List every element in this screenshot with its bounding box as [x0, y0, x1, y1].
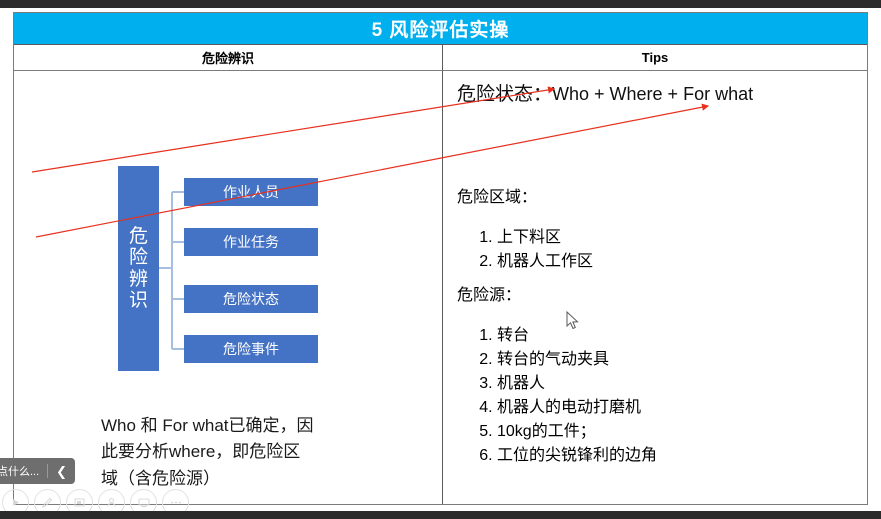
- diagram-node-operator: 作业人员: [184, 178, 318, 206]
- hazard-state-formula: Who + Where + For what: [552, 84, 753, 104]
- diagram-node-task: 作业任务: [184, 228, 318, 256]
- left-caption: Who 和 For what已确定，因 此要分析where，即危险区 域（含危险…: [101, 413, 391, 492]
- list-item: 机器人工作区: [497, 247, 593, 271]
- diagram-node-label: 作业任务: [223, 232, 279, 252]
- hazard-identification-diagram: 危 险 辨 识 作业人员 作业任务 危险状态 危险事件: [14, 71, 443, 401]
- diagram-root-node: 危 险 辨 识: [118, 166, 159, 371]
- left-caption-line-1: Who 和 For what已确定，因: [101, 413, 391, 439]
- chevron-left-icon[interactable]: ❮: [56, 465, 67, 478]
- column-header-left: 危险辨识: [14, 45, 443, 71]
- hazard-state-headline: 危险状态：Who + Where + For what: [457, 83, 857, 108]
- hazard-source-block: 危险源： 转台 转台的气动夹具 机器人 机器人的电动打磨机 10kg的工件； 工…: [457, 281, 657, 481]
- mouse-cursor-icon: [566, 311, 580, 331]
- hazard-zone-list: 上下料区 机器人工作区: [457, 223, 593, 271]
- slide-title-bar: 5 风险评估实操: [14, 13, 867, 45]
- list-item: 机器人: [497, 369, 657, 393]
- root-char-4: 识: [129, 290, 148, 311]
- root-char-1: 危: [129, 226, 148, 247]
- comment-placeholder-text[interactable]: 说点什么...: [0, 463, 39, 479]
- diagram-node-label: 危险事件: [223, 339, 279, 359]
- right-column-body: 危险状态：Who + Where + For what 危险区域： 上下料区 机…: [443, 71, 867, 504]
- diagram-node-label: 危险状态: [223, 289, 279, 309]
- video-chrome-bottom: [0, 511, 881, 519]
- slide-table: 5 风险评估实操 危险辨识 Tips 危 险 辨 识: [13, 12, 868, 505]
- comment-input-pill[interactable]: 说点什么... ❮: [0, 458, 75, 484]
- list-item: 工位的尖锐锋利的边角: [497, 441, 657, 465]
- column-header-right: Tips: [443, 45, 867, 71]
- hazard-state-label: 危险状态：: [457, 84, 552, 105]
- root-char-2: 险: [129, 247, 148, 268]
- diagram-node-hazard-state: 危险状态: [184, 285, 318, 313]
- list-item: 10kg的工件；: [497, 417, 657, 441]
- tips-headline-row: 危险状态：Who + Where + For what: [457, 83, 857, 108]
- hazard-source-list: 转台 转台的气动夹具 机器人 机器人的电动打磨机 10kg的工件； 工位的尖锐锋…: [457, 321, 657, 465]
- diagram-node-hazard-event: 危险事件: [184, 335, 318, 363]
- root-char-3: 辨: [129, 269, 148, 290]
- column-header-left-label: 危险辨识: [202, 48, 254, 67]
- hazard-zone-block: 危险区域： 上下料区 机器人工作区: [457, 183, 593, 287]
- list-item: 上下料区: [497, 223, 593, 247]
- hazard-source-title: 危险源：: [457, 281, 657, 305]
- list-item: 转台的气动夹具: [497, 345, 657, 369]
- page-title: 5 风险评估实操: [372, 15, 510, 42]
- list-item: 机器人的电动打磨机: [497, 393, 657, 417]
- diagram-node-label: 作业人员: [223, 182, 279, 202]
- hazard-zone-title: 危险区域：: [457, 183, 593, 207]
- pill-divider: [47, 464, 48, 478]
- video-chrome-top: [0, 0, 881, 8]
- left-caption-line-2: 此要分析where，即危险区: [101, 439, 391, 465]
- column-header-right-label: Tips: [642, 50, 669, 65]
- left-column-body: 危 险 辨 识 作业人员 作业任务 危险状态 危险事件 Who 和 For wh…: [14, 71, 443, 504]
